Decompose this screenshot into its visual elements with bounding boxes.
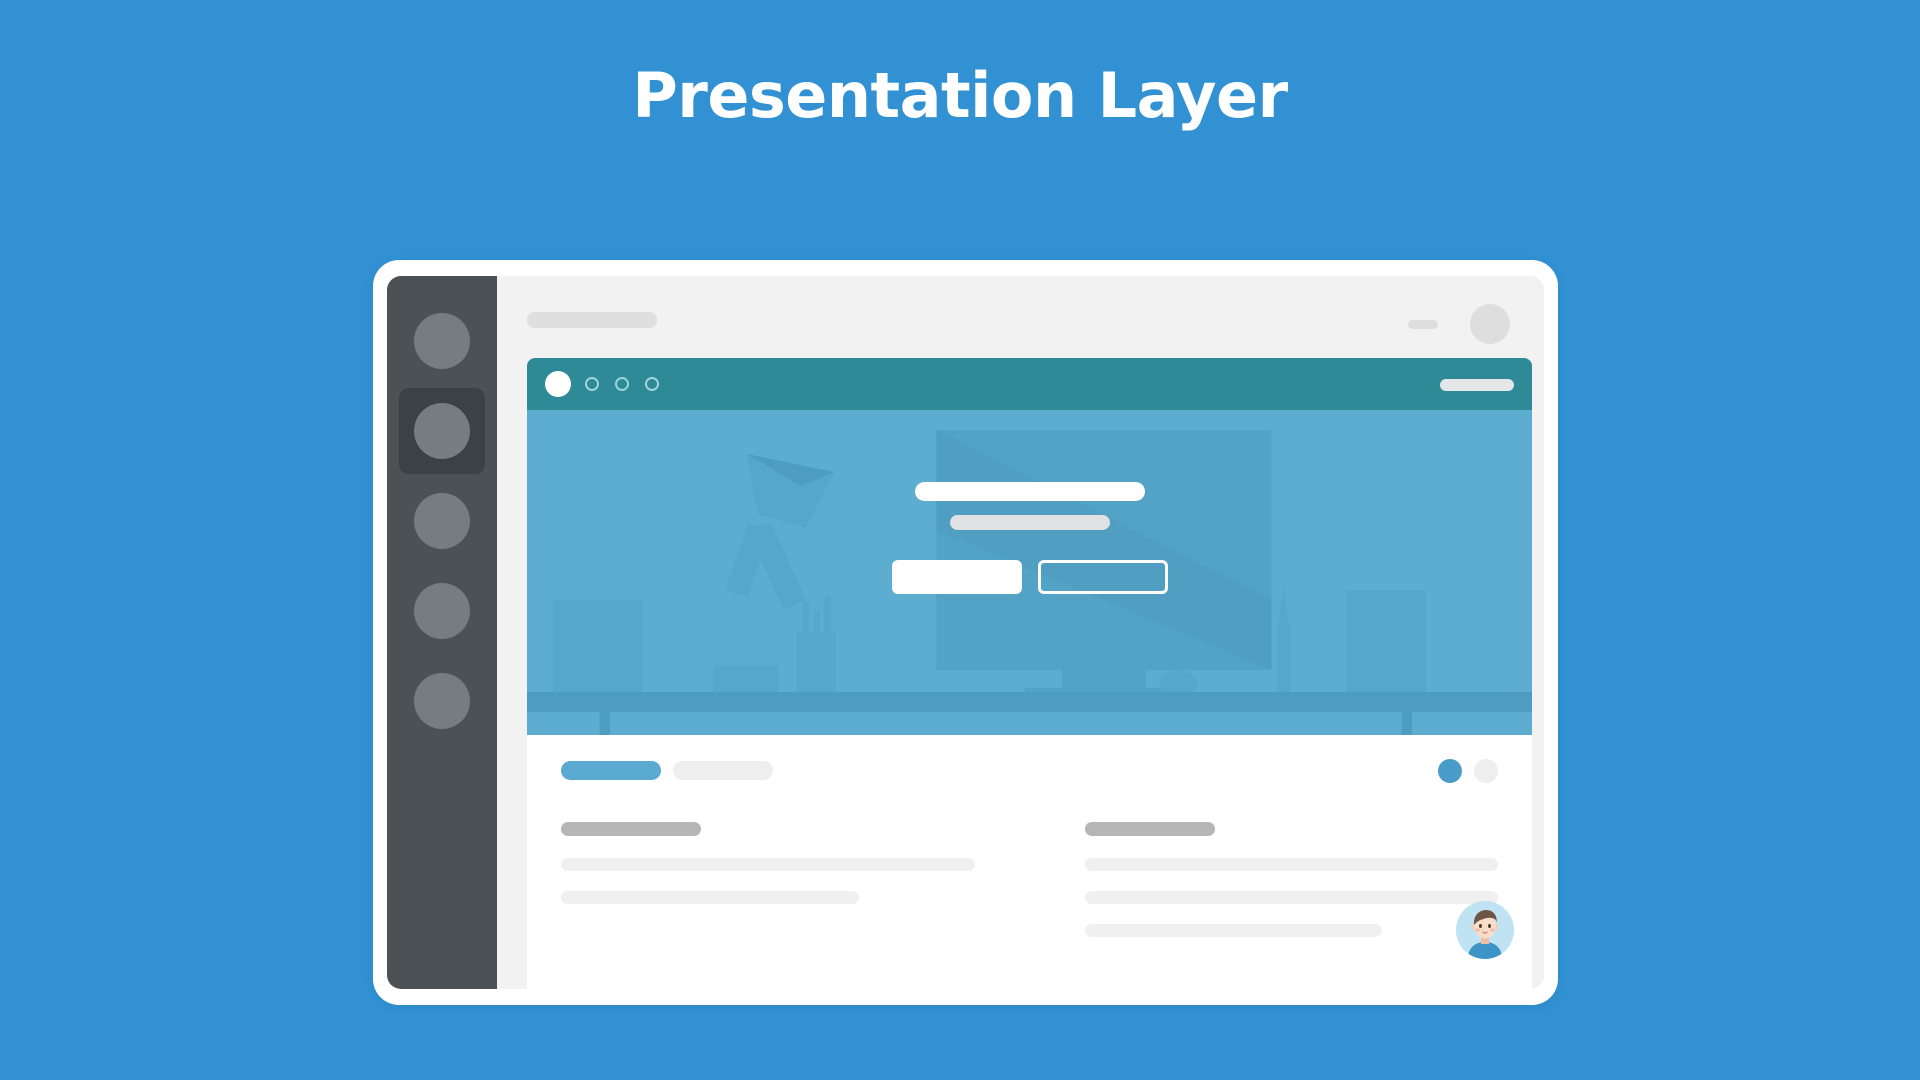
tabs-row [561, 761, 1498, 780]
sidebar-item-1[interactable] [399, 298, 485, 384]
pager-dot-2[interactable] [1474, 759, 1498, 783]
profile-avatar-button[interactable] [1470, 304, 1510, 344]
hero-subheadline [950, 515, 1110, 530]
tab-active[interactable] [561, 761, 661, 780]
text-line [1085, 858, 1499, 871]
sidebar-item-5[interactable] [399, 658, 485, 744]
secondary-cta-button[interactable] [1038, 560, 1168, 594]
app-header [497, 276, 1544, 358]
tab-inactive[interactable] [673, 761, 773, 780]
browser-dot-1-icon[interactable] [585, 377, 599, 391]
cartoon-person-icon [1456, 901, 1514, 959]
hero-banner [527, 410, 1532, 735]
text-line [561, 858, 975, 871]
circle-icon [414, 313, 470, 369]
sidebar-item-4[interactable] [399, 568, 485, 654]
browser-toolbar [527, 358, 1532, 410]
sidebar [387, 276, 497, 989]
circle-icon [414, 583, 470, 639]
hero-content [527, 482, 1532, 594]
device-frame [373, 260, 1558, 1005]
browser-window [527, 358, 1532, 989]
sidebar-item-2[interactable] [399, 388, 485, 474]
column-left [561, 822, 975, 957]
search-input[interactable] [527, 312, 657, 328]
hero-button-group [892, 560, 1168, 594]
pager-dot-active[interactable] [1438, 759, 1462, 783]
hero-headline [915, 482, 1145, 501]
text-line [1085, 924, 1383, 937]
sidebar-item-3[interactable] [399, 478, 485, 564]
primary-cta-button[interactable] [892, 560, 1022, 594]
column-heading [561, 822, 701, 836]
column-right [1085, 822, 1499, 957]
circle-icon [414, 493, 470, 549]
content-columns [561, 822, 1498, 957]
column-heading [1085, 822, 1215, 836]
browser-dot-2-icon[interactable] [615, 377, 629, 391]
minimize-button[interactable] [1408, 320, 1438, 329]
device-screen [387, 276, 1544, 989]
text-line [1085, 891, 1499, 904]
circle-icon [414, 403, 470, 459]
content-area [527, 735, 1532, 989]
app-main [497, 276, 1544, 989]
browser-dot-3-icon[interactable] [645, 377, 659, 391]
url-bar[interactable] [1440, 379, 1514, 391]
text-line [561, 891, 859, 904]
page-title: Presentation Layer [0, 62, 1920, 130]
person-avatar[interactable] [1456, 901, 1514, 959]
circle-icon [414, 673, 470, 729]
pagination [1438, 759, 1498, 783]
browser-dot-active-icon[interactable] [545, 371, 571, 397]
